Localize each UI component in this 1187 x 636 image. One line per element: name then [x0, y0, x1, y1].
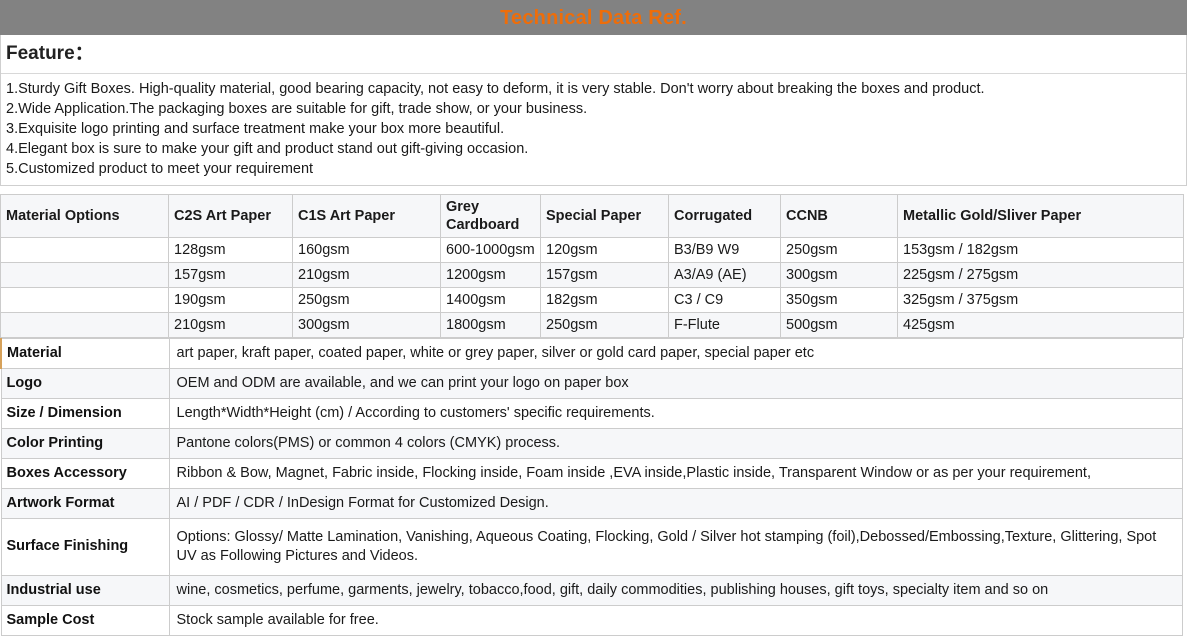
cell-special: 120gsm [541, 237, 669, 262]
cell-grey: 1200gsm [441, 262, 541, 287]
cell-metallic: 325gsm / 375gsm [898, 287, 1184, 312]
specification-table: Material art paper, kraft paper, coated … [0, 338, 1183, 636]
table-row: 128gsm 160gsm 600-1000gsm 120gsm B3/B9 W… [1, 237, 1184, 262]
material-table-header-row: Material Options C2S Art Paper C1S Art P… [1, 194, 1184, 237]
feature-section: Feature： 1.Sturdy Gift Boxes. High-quali… [0, 35, 1187, 186]
spec-value-industrial-use: wine, cosmetics, perfume, garments, jewe… [169, 575, 1183, 605]
cell-corrugated: B3/B9 W9 [669, 237, 781, 262]
cell-c1s: 210gsm [293, 262, 441, 287]
cell-corrugated: A3/A9 (AE) [669, 262, 781, 287]
column-header-grey-cardboard: Grey Cardboard [441, 194, 541, 237]
table-row: 157gsm 210gsm 1200gsm 157gsm A3/A9 (AE) … [1, 262, 1184, 287]
cell-corrugated: C3 / C9 [669, 287, 781, 312]
spec-row-boxes-accessory: Boxes Accessory Ribbon & Bow, Magnet, Fa… [1, 458, 1183, 488]
column-header-special-paper: Special Paper [541, 194, 669, 237]
cell-c2s: 128gsm [169, 237, 293, 262]
cell-special: 157gsm [541, 262, 669, 287]
column-header-material-options: Material Options [1, 194, 169, 237]
spec-value-boxes-accessory: Ribbon & Bow, Magnet, Fabric inside, Flo… [169, 458, 1183, 488]
cell-ccnb: 350gsm [781, 287, 898, 312]
spec-value-logo: OEM and ODM are available, and we can pr… [169, 368, 1183, 398]
feature-line: 3.Exquisite logo printing and surface tr… [6, 119, 1181, 139]
spec-row-artwork-format: Artwork Format AI / PDF / CDR / InDesign… [1, 488, 1183, 518]
material-options-table: Material Options C2S Art Paper C1S Art P… [0, 194, 1184, 338]
table-row: 210gsm 300gsm 1800gsm 250gsm F-Flute 500… [1, 312, 1184, 337]
cell-ccnb: 300gsm [781, 262, 898, 287]
page-title: Technical Data Ref. [500, 8, 687, 28]
column-header-metallic-paper: Metallic Gold/Sliver Paper [898, 194, 1184, 237]
spec-label-surface-finishing: Surface Finishing [1, 518, 169, 575]
column-header-c2s-art-paper: C2S Art Paper [169, 194, 293, 237]
cell-ccnb: 250gsm [781, 237, 898, 262]
section-spacer [0, 186, 1187, 194]
cell-material-options [1, 287, 169, 312]
feature-list: 1.Sturdy Gift Boxes. High-quality materi… [1, 74, 1186, 186]
feature-line: 4.Elegant box is sure to make your gift … [6, 139, 1181, 159]
cell-c2s: 190gsm [169, 287, 293, 312]
cell-c2s: 157gsm [169, 262, 293, 287]
spec-label-industrial-use: Industrial use [1, 575, 169, 605]
cell-corrugated: F-Flute [669, 312, 781, 337]
spec-label-material: Material [1, 338, 169, 368]
spec-value-material: art paper, kraft paper, coated paper, wh… [169, 338, 1183, 368]
cell-grey: 1800gsm [441, 312, 541, 337]
cell-c1s: 300gsm [293, 312, 441, 337]
cell-c2s: 210gsm [169, 312, 293, 337]
column-header-c1s-art-paper: C1S Art Paper [293, 194, 441, 237]
cell-material-options [1, 262, 169, 287]
spec-value-surface-finishing: Options: Glossy/ Matte Lamination, Vanis… [169, 518, 1183, 575]
spec-value-color-printing: Pantone colors(PMS) or common 4 colors (… [169, 428, 1183, 458]
cell-ccnb: 500gsm [781, 312, 898, 337]
spec-row-logo: Logo OEM and ODM are available, and we c… [1, 368, 1183, 398]
feature-line: 5.Customized product to meet your requir… [6, 159, 1181, 179]
feature-heading: Feature： [1, 35, 1186, 74]
cell-special: 250gsm [541, 312, 669, 337]
cell-grey: 1400gsm [441, 287, 541, 312]
spec-row-material: Material art paper, kraft paper, coated … [1, 338, 1183, 368]
cell-grey: 600-1000gsm [441, 237, 541, 262]
table-row: 190gsm 250gsm 1400gsm 182gsm C3 / C9 350… [1, 287, 1184, 312]
feature-line: 1.Sturdy Gift Boxes. High-quality materi… [6, 79, 1181, 99]
spec-row-sample-cost: Sample Cost Stock sample available for f… [1, 605, 1183, 635]
spec-label-sample-cost: Sample Cost [1, 605, 169, 635]
cell-metallic: 425gsm [898, 312, 1184, 337]
technical-data-sheet: Technical Data Ref. Feature： 1.Sturdy Gi… [0, 0, 1187, 620]
spec-row-surface-finishing: Surface Finishing Options: Glossy/ Matte… [1, 518, 1183, 575]
spec-value-size-dimension: Length*Width*Height (cm) / According to … [169, 398, 1183, 428]
column-header-ccnb: CCNB [781, 194, 898, 237]
spec-label-boxes-accessory: Boxes Accessory [1, 458, 169, 488]
spec-value-sample-cost: Stock sample available for free. [169, 605, 1183, 635]
page-title-bar: Technical Data Ref. [0, 0, 1187, 35]
cell-c1s: 250gsm [293, 287, 441, 312]
feature-line: 2.Wide Application.The packaging boxes a… [6, 99, 1181, 119]
spec-row-size-dimension: Size / Dimension Length*Width*Height (cm… [1, 398, 1183, 428]
spec-label-artwork-format: Artwork Format [1, 488, 169, 518]
spec-label-color-printing: Color Printing [1, 428, 169, 458]
spec-row-industrial-use: Industrial use wine, cosmetics, perfume,… [1, 575, 1183, 605]
column-header-corrugated: Corrugated [669, 194, 781, 237]
cell-c1s: 160gsm [293, 237, 441, 262]
cell-material-options [1, 237, 169, 262]
spec-label-size-dimension: Size / Dimension [1, 398, 169, 428]
cell-special: 182gsm [541, 287, 669, 312]
spec-value-artwork-format: AI / PDF / CDR / InDesign Format for Cus… [169, 488, 1183, 518]
spec-row-color-printing: Color Printing Pantone colors(PMS) or co… [1, 428, 1183, 458]
cell-metallic: 153gsm / 182gsm [898, 237, 1184, 262]
cell-material-options [1, 312, 169, 337]
spec-label-logo: Logo [1, 368, 169, 398]
cell-metallic: 225gsm / 275gsm [898, 262, 1184, 287]
